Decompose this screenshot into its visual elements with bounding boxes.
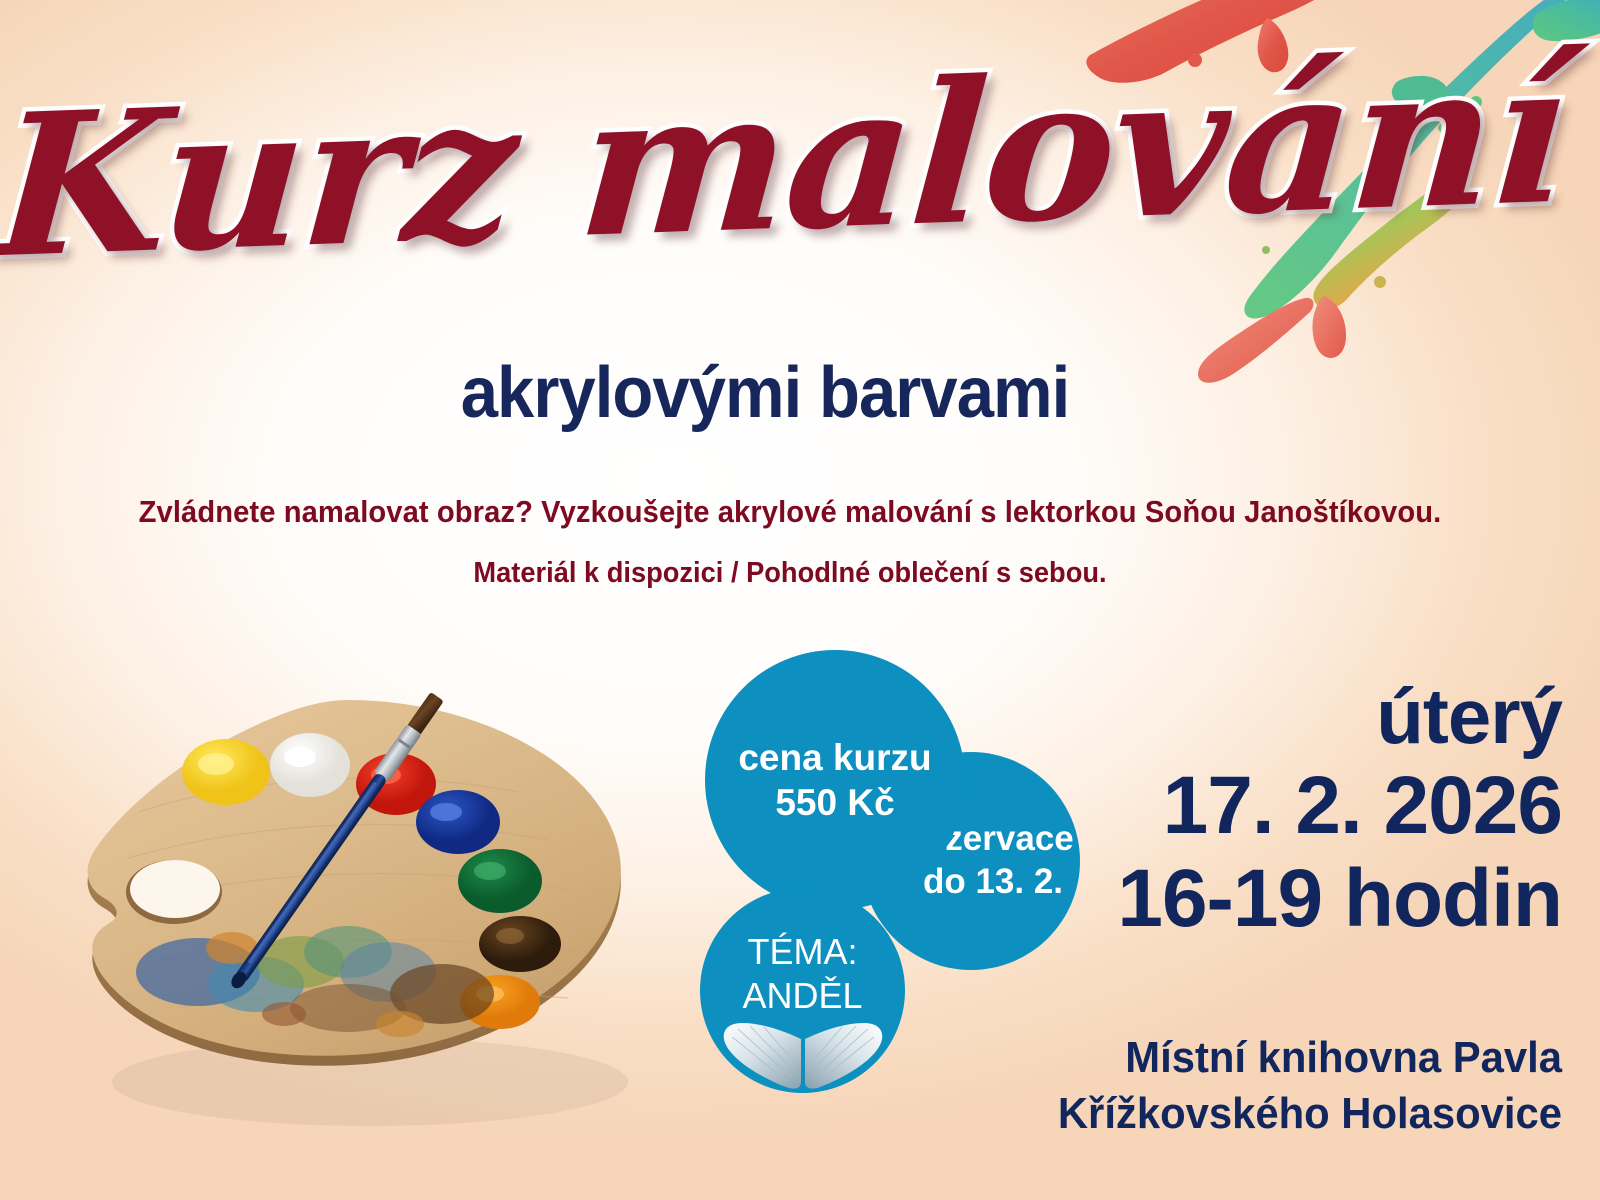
- event-time: 16-19 hodin: [1117, 857, 1562, 941]
- poster-body-line-2: Materiál k dispozici / Pohodlné oblečení…: [47, 557, 1532, 590]
- theme-bubble-line-1: TÉMA:: [747, 930, 857, 974]
- theme-bubble: TÉMA: ANDĚL: [700, 888, 905, 1093]
- venue-line-2: Křížkovského Holasovice: [973, 1086, 1562, 1142]
- poster-canvas: Kurz malování akrylovými barvami Zvládne…: [0, 0, 1600, 1200]
- reservation-bubble-line-2: do 13. 2.: [923, 861, 1063, 904]
- poster-subtitle: akrylovými barvami: [54, 352, 1477, 434]
- event-venue: Místní knihovna Pavla Křížkovského Holas…: [973, 1030, 1562, 1143]
- angel-wings-icon: [708, 1015, 898, 1093]
- venue-line-1: Místní knihovna Pavla: [973, 1030, 1562, 1086]
- poster-title-wrap: Kurz malování: [0, 58, 1560, 264]
- event-weekday: úterý: [1117, 676, 1562, 756]
- poster-body-line-1: Zvládnete namalovat obraz? Vyzkoušejte a…: [47, 494, 1532, 530]
- price-bubble-line-2: 550 Kč: [761, 780, 908, 825]
- poster-title: Kurz malování: [0, 31, 1572, 291]
- price-bubble-line-1: cena kurzu: [724, 735, 945, 780]
- paint-palette-icon: [48, 662, 668, 1132]
- theme-bubble-line-2: ANDĚL: [742, 974, 862, 1018]
- event-date-block: úterý 17. 2. 2026 16-19 hodin: [1117, 676, 1562, 941]
- event-date: 17. 2. 2026: [1117, 764, 1562, 848]
- price-bubble: cena kurzu 550 Kč: [705, 650, 965, 910]
